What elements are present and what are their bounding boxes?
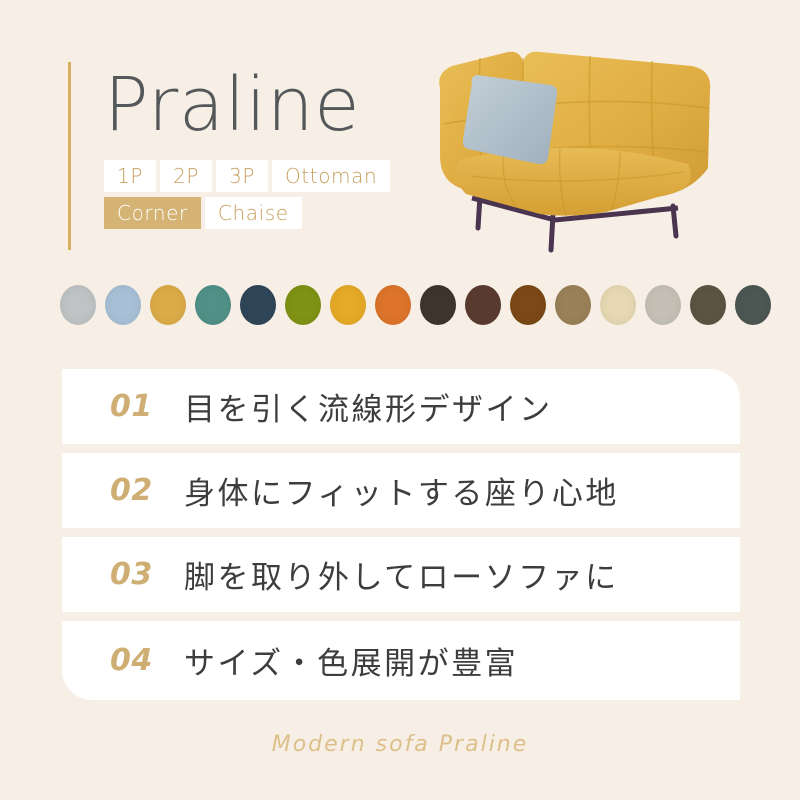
variant-tag-row-2: Corner Chaise — [104, 197, 390, 229]
swatch-12[interactable] — [600, 285, 636, 325]
variant-tag-row-1: 1P 2P 3P Ottoman — [104, 160, 390, 192]
feature-text: サイズ・色展開が豊富 — [184, 638, 518, 683]
feature-card-01: 01 目を引く流線形デザイン — [62, 369, 740, 444]
swatch-9[interactable] — [465, 285, 501, 325]
fabric-swatch-row — [60, 283, 740, 327]
swatch-8[interactable] — [420, 285, 456, 325]
feature-text: 脚を取り外してローソファに — [184, 552, 619, 597]
variant-tag-ottoman[interactable]: Ottoman — [272, 160, 390, 192]
swatch-3[interactable] — [195, 285, 231, 325]
feature-number: 04 — [110, 643, 162, 678]
swatch-6[interactable] — [330, 285, 366, 325]
variant-tag-2p[interactable]: 2P — [160, 160, 212, 192]
sofa-accent-pillow — [463, 75, 557, 164]
swatch-4[interactable] — [240, 285, 276, 325]
sofa-illustration-icon — [420, 28, 730, 273]
feature-number: 01 — [110, 389, 162, 424]
swatch-15[interactable] — [735, 285, 771, 325]
swatch-13[interactable] — [645, 285, 681, 325]
accent-bar — [68, 62, 71, 250]
feature-text: 身体にフィットする座り心地 — [184, 468, 619, 513]
feature-number: 03 — [110, 557, 162, 592]
variant-tag-group: 1P 2P 3P Ottoman Corner Chaise — [104, 160, 390, 234]
feature-card-02: 02 身体にフィットする座り心地 — [62, 453, 740, 528]
product-image-corner-sofa — [420, 28, 730, 273]
swatch-5[interactable] — [285, 285, 321, 325]
feature-list: 01 目を引く流線形デザイン 02 身体にフィットする座り心地 03 脚を取り外… — [62, 369, 740, 700]
feature-card-03: 03 脚を取り外してローソファに — [62, 537, 740, 612]
swatch-14[interactable] — [690, 285, 726, 325]
footer-tagline: Modern sofa Praline — [0, 732, 800, 757]
swatch-7[interactable] — [375, 285, 411, 325]
swatch-0[interactable] — [60, 285, 96, 325]
variant-tag-3p[interactable]: 3P — [216, 160, 268, 192]
page-title: Praline — [104, 62, 360, 148]
swatch-2[interactable] — [150, 285, 186, 325]
feature-card-04: 04 サイズ・色展開が豊富 — [62, 621, 740, 700]
feature-number: 02 — [110, 473, 162, 508]
variant-tag-chaise[interactable]: Chaise — [205, 197, 302, 229]
swatch-1[interactable] — [105, 285, 141, 325]
variant-tag-1p[interactable]: 1P — [104, 160, 156, 192]
feature-text: 目を引く流線形デザイン — [184, 384, 553, 429]
swatch-10[interactable] — [510, 285, 546, 325]
hero-section: Praline 1P 2P 3P Ottoman Corner Chaise — [0, 0, 800, 270]
swatch-11[interactable] — [555, 285, 591, 325]
variant-tag-corner[interactable]: Corner — [104, 197, 201, 229]
